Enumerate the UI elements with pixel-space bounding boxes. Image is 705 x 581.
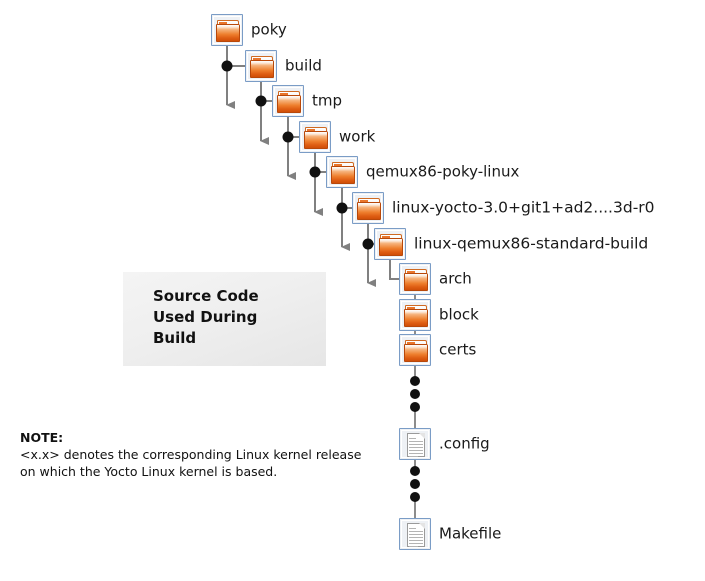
- junction-dot-build: [256, 96, 267, 107]
- folder-icon: [326, 156, 358, 188]
- junction-dot-tmp: [283, 132, 294, 143]
- tree-node-label: tmp: [312, 94, 342, 109]
- edge-standardbuild-to-arch: [390, 260, 399, 279]
- note-body: <x.x> denotes the corresponding Linux ke…: [20, 446, 380, 480]
- folder-icon: [272, 85, 304, 117]
- folder-icon: [352, 192, 384, 224]
- tree-node-block[interactable]: block: [399, 299, 599, 331]
- tree-node-linux-yocto[interactable]: linux-yocto-3.0+git1+ad2....3d-r0: [352, 192, 692, 224]
- junction-dot-linuxyocto: [363, 239, 374, 250]
- tree-node-label: poky: [251, 23, 287, 38]
- ellipsis-dot: [410, 389, 420, 399]
- file-icon: [399, 518, 431, 550]
- tree-node-label: .config: [439, 437, 490, 452]
- tree-node-makefile[interactable]: Makefile: [399, 518, 599, 550]
- tree-node-build[interactable]: build: [245, 50, 485, 82]
- ellipsis-dot: [410, 402, 420, 412]
- tree-node-label: linux-yocto-3.0+git1+ad2....3d-r0: [392, 200, 655, 216]
- folder-icon: [211, 14, 243, 46]
- note-block: NOTE: <x.x> denotes the corresponding Li…: [20, 430, 380, 480]
- tree-node-poky[interactable]: poky: [211, 14, 451, 46]
- tree-node-label: work: [339, 130, 375, 145]
- junction-dot-poky: [222, 61, 233, 72]
- tree-node-label: arch: [439, 272, 472, 287]
- folder-icon: [399, 299, 431, 331]
- tree-node-qemux86-poky-linux[interactable]: qemux86-poky-linux: [326, 156, 626, 188]
- folder-icon: [374, 228, 406, 260]
- file-icon: [399, 428, 431, 460]
- ellipsis-dot: [410, 466, 420, 476]
- tree-node-label: block: [439, 308, 479, 323]
- tree-node-linux-qemux86-standard-build[interactable]: linux-qemux86-standard-build: [374, 228, 694, 260]
- diagram-canvas: poky build tmp work qemux86-poky-linux l…: [0, 0, 705, 581]
- ellipsis-dot: [410, 479, 420, 489]
- tree-node-label: certs: [439, 343, 476, 358]
- tree-node-certs[interactable]: certs: [399, 334, 599, 366]
- note-title: NOTE:: [20, 430, 380, 446]
- tree-node-config[interactable]: .config: [399, 428, 599, 460]
- tree-node-arch[interactable]: arch: [399, 263, 599, 295]
- junction-dot-qemux86: [337, 203, 348, 214]
- tree-node-label: qemux86-poky-linux: [366, 165, 519, 180]
- folder-icon: [245, 50, 277, 82]
- ellipsis-dot: [410, 492, 420, 502]
- ellipsis-dot: [410, 376, 420, 386]
- tree-node-work[interactable]: work: [299, 121, 539, 153]
- tree-node-label: Makefile: [439, 527, 501, 542]
- junction-dot-work: [310, 167, 321, 178]
- tree-node-label: build: [285, 59, 322, 74]
- folder-icon: [299, 121, 331, 153]
- folder-icon: [399, 263, 431, 295]
- source-code-callout: Source Code Used During Build: [123, 272, 326, 366]
- source-code-callout-text: Source Code Used During Build: [153, 286, 259, 349]
- tree-node-label: linux-qemux86-standard-build: [414, 236, 648, 252]
- folder-icon: [399, 334, 431, 366]
- tree-node-tmp[interactable]: tmp: [272, 85, 512, 117]
